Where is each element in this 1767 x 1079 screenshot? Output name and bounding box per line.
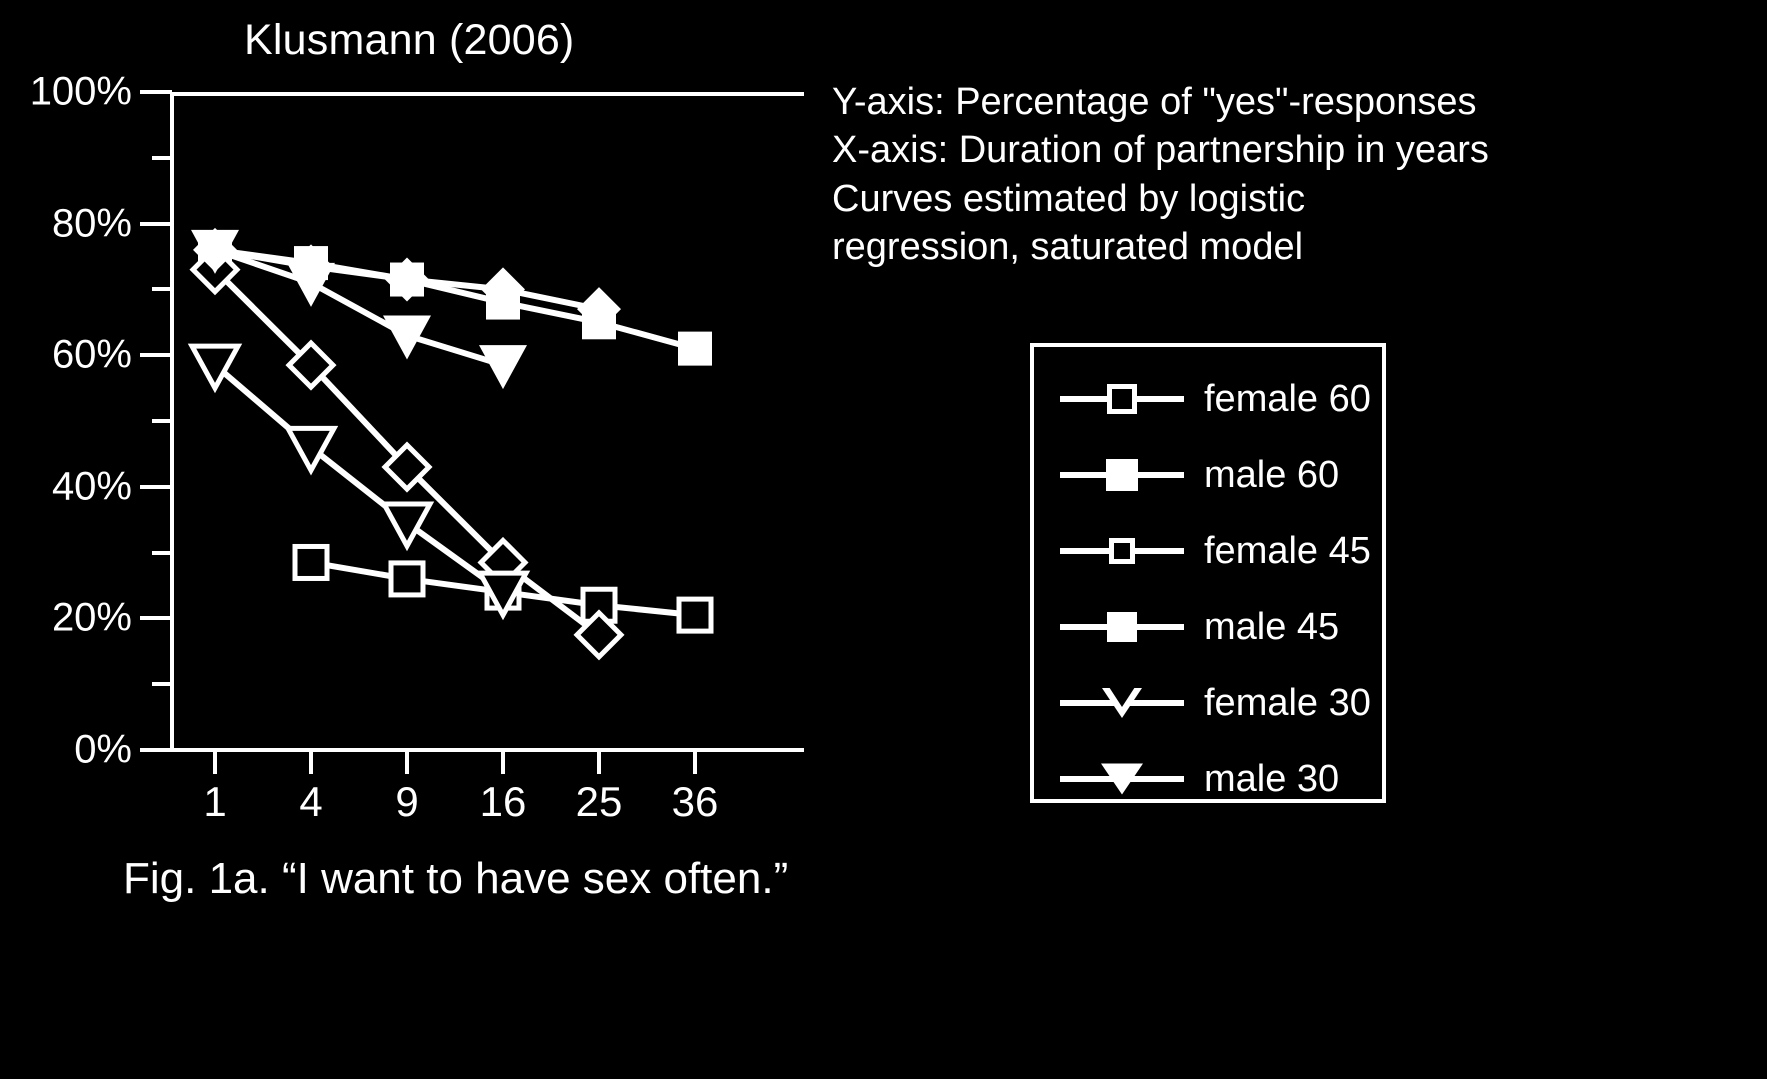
figure-caption: Fig. 1a. “I want to have sex often.” bbox=[123, 854, 788, 904]
legend-glyph bbox=[1106, 459, 1138, 491]
square-filled-icon bbox=[1106, 459, 1138, 491]
data-point-square-filled bbox=[486, 286, 520, 320]
data-point-square-open bbox=[391, 563, 423, 595]
x-tick bbox=[309, 752, 313, 774]
legend-label: male 60 bbox=[1204, 454, 1339, 497]
legend-marker-diamond-filled-icon bbox=[1058, 607, 1186, 647]
legend-label: female 30 bbox=[1204, 682, 1371, 725]
note-line: X-axis: Duration of partnership in years bbox=[832, 126, 1752, 174]
data-point-square-filled bbox=[678, 332, 712, 366]
y-tick-minor bbox=[152, 419, 172, 423]
data-point-square-filled bbox=[582, 305, 616, 339]
data-point-square-filled bbox=[390, 263, 424, 297]
x-tick-label: 25 bbox=[576, 778, 623, 826]
y-tick-major bbox=[140, 616, 172, 620]
x-axis-line bbox=[170, 748, 804, 752]
data-point-diamond-open bbox=[385, 445, 429, 489]
x-tick-label: 9 bbox=[395, 778, 418, 826]
data-point-square-filled bbox=[294, 246, 328, 280]
legend-glyph bbox=[1101, 764, 1143, 795]
data-point-diamond-filled bbox=[193, 228, 237, 272]
data-point-square-filled bbox=[198, 233, 232, 267]
y-tick-major bbox=[140, 222, 172, 226]
data-point-square-open bbox=[679, 599, 711, 631]
y-tick-label: 40% bbox=[52, 464, 132, 509]
legend-glyph bbox=[1102, 688, 1142, 718]
x-tick bbox=[213, 752, 217, 774]
data-point-triangle-down-filled bbox=[383, 315, 431, 359]
y-tick-minor bbox=[152, 287, 172, 291]
diamond-open-icon bbox=[1109, 538, 1135, 564]
figure-root: Klusmann (2006) 100%80%60%40%20%0% 14916… bbox=[0, 0, 1767, 1079]
y-tick-minor bbox=[152, 551, 172, 555]
series-line-male-60 bbox=[215, 250, 695, 349]
data-point-diamond-filled bbox=[481, 267, 525, 311]
data-point-diamond-filled bbox=[385, 258, 429, 302]
legend-label: male 30 bbox=[1204, 758, 1339, 801]
note-line: Y-axis: Percentage of "yes"-responses bbox=[832, 78, 1752, 126]
legend-marker-triangle-down-filled-icon bbox=[1058, 759, 1186, 799]
legend-item-female-30[interactable]: female 30 bbox=[1034, 665, 1382, 741]
y-tick-major bbox=[140, 485, 172, 489]
note-line: Curves estimated by logistic bbox=[832, 175, 1752, 223]
data-point-triangle-down-filled bbox=[191, 230, 239, 274]
legend-label: female 60 bbox=[1204, 378, 1371, 421]
series-line-female-60 bbox=[311, 562, 695, 615]
data-point-diamond-open bbox=[289, 343, 333, 387]
data-point-triangle-down-filled bbox=[479, 345, 527, 389]
y-tick-minor bbox=[152, 682, 172, 686]
x-tick-label: 36 bbox=[672, 778, 719, 826]
legend-marker-diamond-open-icon bbox=[1058, 531, 1186, 571]
x-tick-label: 4 bbox=[299, 778, 322, 826]
series-line-female-30 bbox=[215, 365, 503, 592]
data-point-diamond-open bbox=[577, 613, 621, 657]
data-point-diamond-filled bbox=[577, 287, 621, 331]
data-point-square-open bbox=[487, 576, 519, 608]
legend-item-male-30[interactable]: male 30 bbox=[1034, 741, 1382, 817]
x-tick bbox=[405, 752, 409, 774]
data-point-diamond-open bbox=[481, 540, 525, 584]
series-line-female-45 bbox=[215, 270, 599, 635]
data-point-triangle-down-open bbox=[192, 346, 238, 388]
data-point-square-open bbox=[295, 546, 327, 578]
data-point-diamond-open bbox=[193, 248, 237, 292]
note-line: regression, saturated model bbox=[832, 223, 1752, 271]
series-line-male-45 bbox=[215, 250, 599, 309]
y-tick-major bbox=[140, 353, 172, 357]
x-tick-label: 1 bbox=[203, 778, 226, 826]
data-point-triangle-down-open bbox=[288, 428, 334, 470]
y-tick-major bbox=[140, 748, 172, 752]
legend-item-male-45[interactable]: male 45 bbox=[1034, 589, 1382, 665]
x-tick bbox=[597, 752, 601, 774]
legend-marker-square-filled-icon bbox=[1058, 455, 1186, 495]
y-tick-label: 20% bbox=[52, 596, 132, 641]
legend-label: male 45 bbox=[1204, 606, 1339, 649]
y-tick-label: 80% bbox=[52, 201, 132, 246]
legend-marker-triangle-down-open-icon bbox=[1058, 683, 1186, 723]
y-tick-label: 0% bbox=[74, 728, 132, 773]
legend-item-female-45[interactable]: female 45 bbox=[1034, 513, 1382, 589]
legend-box: female 60male 60female 45male 45female 3… bbox=[1030, 343, 1386, 803]
x-tick bbox=[501, 752, 505, 774]
x-tick-label: 16 bbox=[480, 778, 527, 826]
y-tick-minor bbox=[152, 156, 172, 160]
plot-top-border bbox=[170, 92, 804, 96]
x-tick bbox=[693, 752, 697, 774]
legend-item-female-60[interactable]: female 60 bbox=[1034, 361, 1382, 437]
figure-title: Klusmann (2006) bbox=[244, 16, 574, 65]
legend-marker-square-open-icon bbox=[1058, 379, 1186, 419]
data-point-triangle-down-filled bbox=[287, 263, 335, 307]
data-point-triangle-down-open bbox=[480, 573, 526, 615]
legend-label: female 45 bbox=[1204, 530, 1371, 573]
data-point-triangle-down-open bbox=[384, 504, 430, 546]
y-tick-label: 100% bbox=[30, 70, 132, 115]
figure-notes: Y-axis: Percentage of "yes"-responsesX-a… bbox=[832, 78, 1752, 271]
y-tick-major bbox=[140, 90, 172, 94]
triangle-down-filled-icon bbox=[1101, 764, 1143, 795]
y-tick-label: 60% bbox=[52, 333, 132, 378]
series-line-male-30 bbox=[215, 250, 503, 365]
legend-item-male-60[interactable]: male 60 bbox=[1034, 437, 1382, 513]
diamond-filled-icon bbox=[1107, 612, 1137, 642]
square-open-icon bbox=[1107, 384, 1137, 414]
data-point-diamond-filled bbox=[289, 244, 333, 288]
triangle-down-open-icon bbox=[1102, 688, 1142, 718]
legend-glyph bbox=[1107, 384, 1137, 414]
data-point-square-open bbox=[583, 589, 615, 621]
